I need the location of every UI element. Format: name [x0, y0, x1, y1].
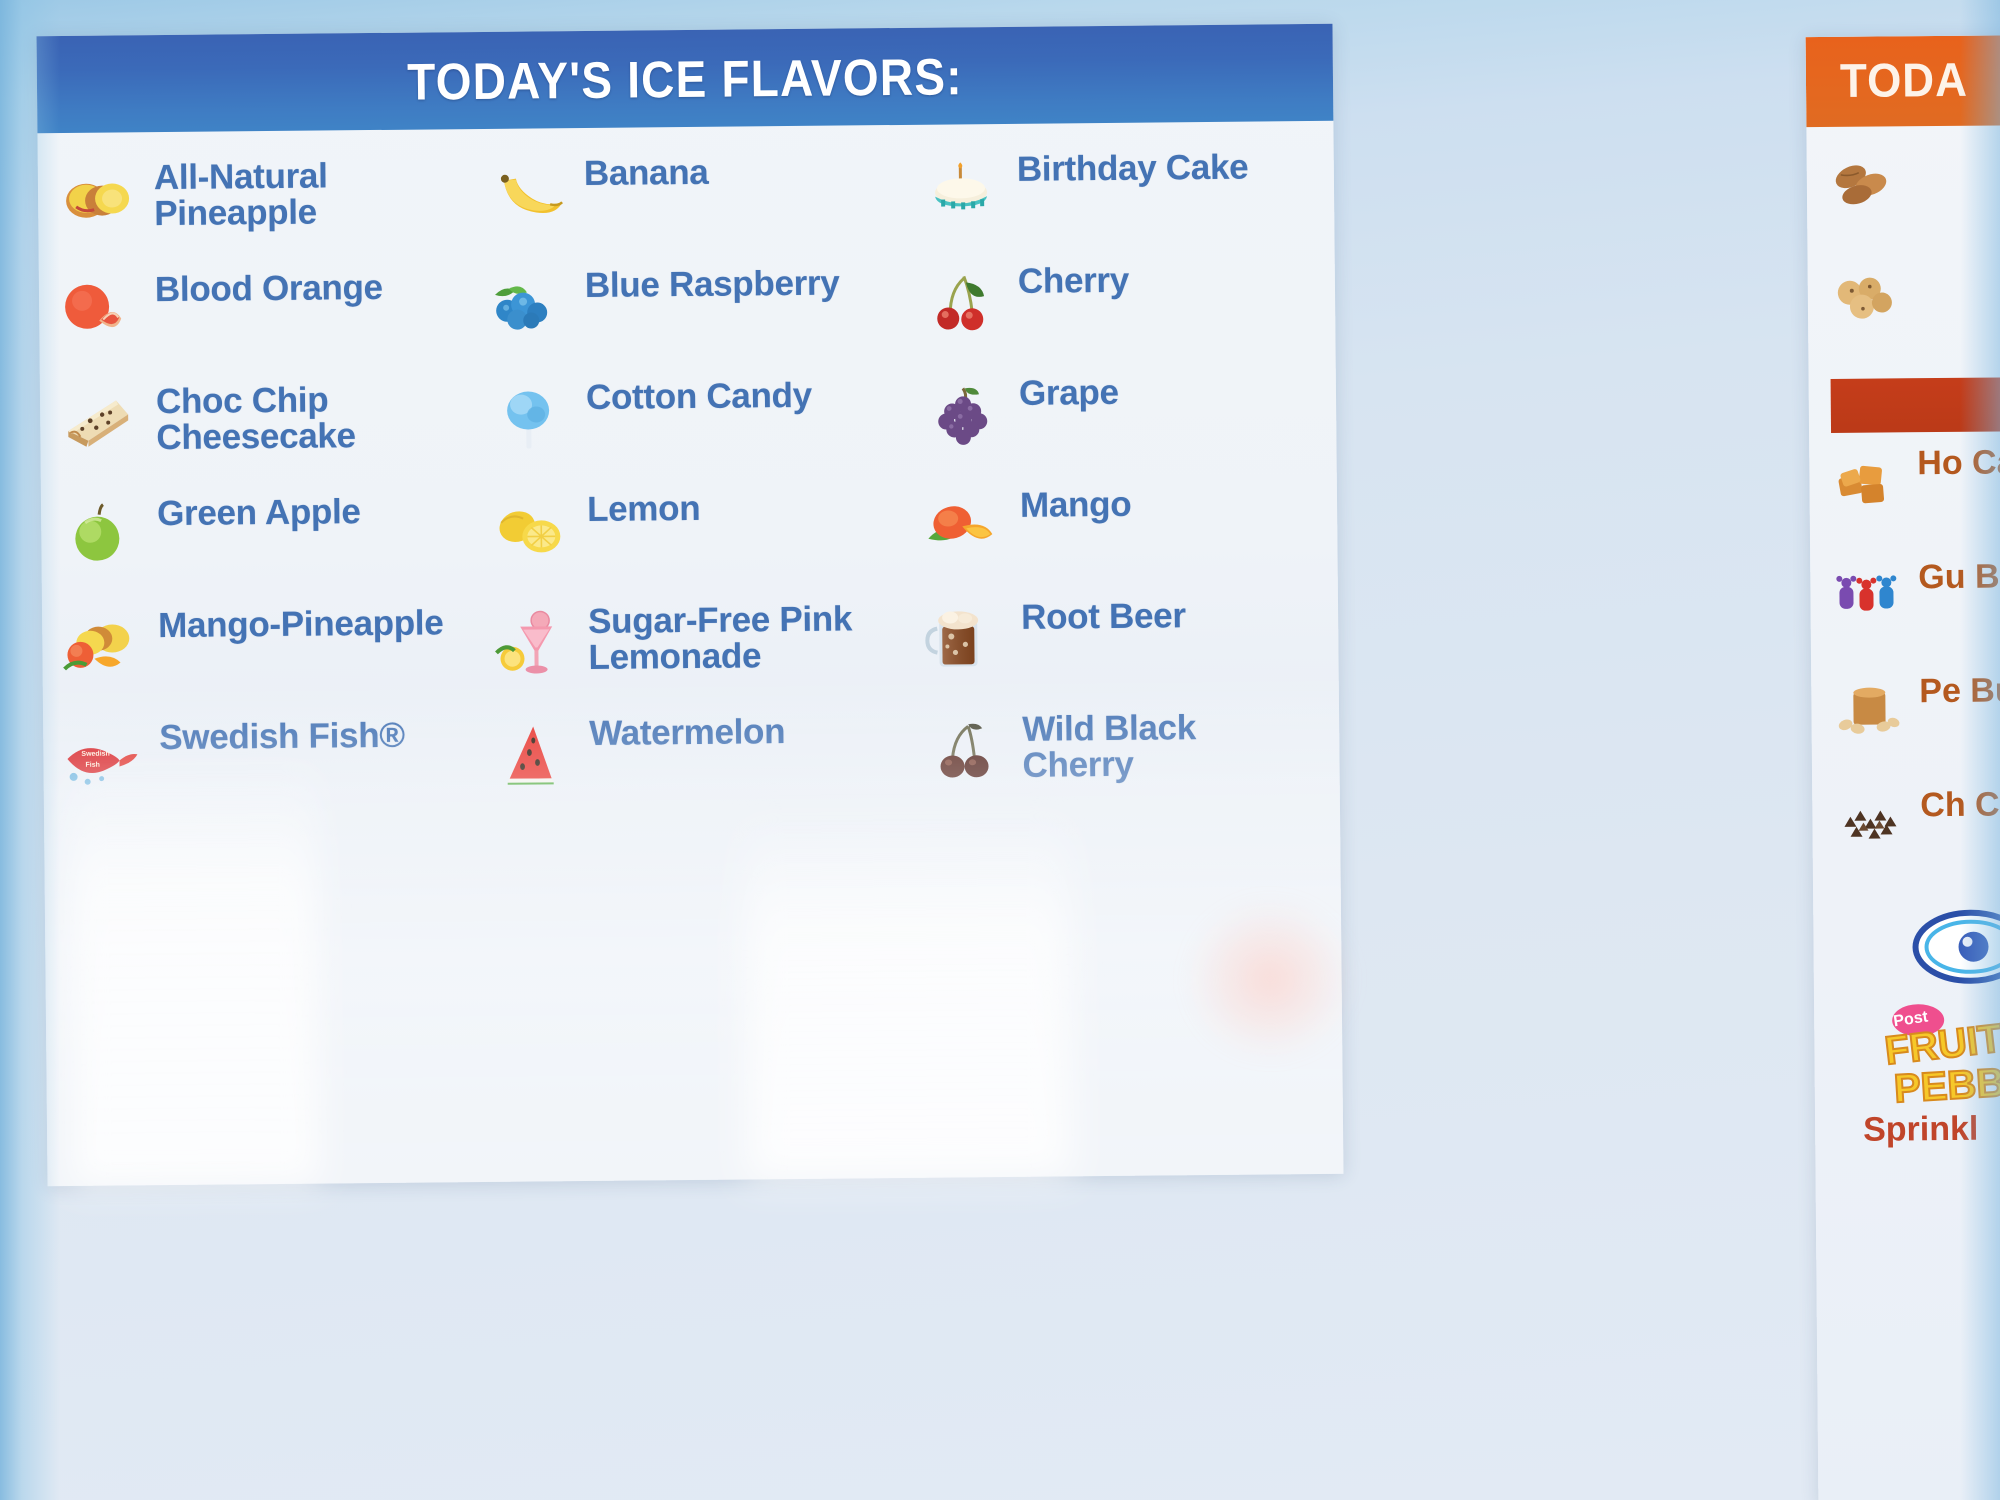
blue-raspberry-icon	[487, 272, 572, 339]
flavor-label: Grape	[1019, 375, 1119, 412]
flavor-label: Cotton Candy	[586, 378, 812, 417]
flavor-item: Birthday Cake	[919, 143, 1320, 259]
flavor-item: Wild Black Cherry	[924, 703, 1325, 819]
lemon-icon	[489, 496, 574, 563]
candy-board-title: TODA	[1840, 54, 1968, 109]
flavor-item: Cherry	[920, 255, 1321, 371]
blood-orange-icon	[57, 276, 142, 343]
candy-item	[1830, 263, 2000, 351]
flavor-item: Sugar-Free Pink Lemonade	[490, 595, 924, 711]
flavor-label: Choc Chip Cheesecake	[156, 381, 457, 457]
candy-item: Pe Bu	[1833, 673, 2000, 761]
swedish-fish-icon: Swedish Fish	[61, 724, 146, 791]
candy-label: Pe Bu	[1919, 673, 2000, 710]
candy-item: Ho Ca	[1831, 445, 2000, 533]
glass-glare-warm	[1185, 898, 1355, 1061]
flavor-item: Green Apple	[59, 487, 490, 603]
cheesecake-slice-icon	[58, 388, 143, 455]
flavor-item: Mango	[922, 479, 1323, 595]
black-cherry-icon	[924, 716, 1009, 783]
gummy-bears-icon	[1832, 564, 1907, 625]
candy-item	[1829, 149, 2000, 237]
cotton-candy-icon	[488, 384, 573, 451]
candy-label: Ho Ca	[1917, 445, 2000, 482]
candy-item: Gu Be	[1832, 559, 2000, 647]
flavor-label: Watermelon	[589, 714, 785, 752]
mango-pineapple-icon	[60, 612, 145, 679]
candy-body: Ho Ca	[1806, 125, 2000, 1150]
candy-label: Ch Ch	[1920, 787, 2000, 824]
flavor-item: All-Natural Pineapple	[56, 151, 487, 267]
glass-glare-center	[744, 808, 1072, 1179]
flavor-item: Lemon	[489, 483, 923, 599]
flavor-item: Swedish Fish Swedish Fish®	[61, 711, 492, 827]
flavor-grid: All-Natural Pineapple Banana	[37, 121, 1340, 827]
flavor-label: Cherry	[1018, 263, 1129, 300]
flavor-label: Green Apple	[157, 494, 361, 532]
caramel-cubes-icon	[1831, 450, 1906, 511]
root-beer-mug-icon	[923, 604, 1008, 671]
flavor-label: Banana	[584, 155, 709, 193]
chocolate-chips-icon	[1834, 792, 1909, 853]
cherry-icon	[920, 268, 1005, 335]
ice-board-header: TODAY'S ICE FLAVORS:	[37, 24, 1334, 133]
flavor-label: Root Beer	[1021, 598, 1186, 636]
flavor-label: Mango-Pineapple	[158, 605, 444, 644]
green-apple-icon	[59, 500, 144, 567]
cookie-dough-icon	[1830, 268, 1905, 329]
peanut-butter-icon	[1833, 678, 1908, 739]
grape-icon	[921, 380, 1006, 447]
mango-icon	[922, 492, 1007, 559]
flavor-label: Swedish Fish®	[159, 718, 405, 757]
candy-section-divider	[1831, 377, 2000, 433]
watermelon-icon	[491, 720, 576, 787]
banana-icon	[486, 160, 571, 227]
flavor-item: Blood Orange	[57, 263, 488, 379]
flavor-label: Mango	[1020, 487, 1132, 524]
pineapple-icon	[56, 164, 141, 231]
flavor-item: Root Beer	[923, 591, 1324, 707]
flavor-item: Mango-Pineapple	[60, 599, 491, 715]
flavor-label: All-Natural Pineapple	[154, 157, 455, 233]
pink-lemonade-icon	[490, 608, 575, 675]
candy-eye-logo	[1895, 901, 2000, 992]
flavor-item: Banana	[486, 147, 920, 263]
flavor-item: Grape	[921, 367, 1322, 483]
candy-item: Ch Ch	[1834, 787, 2000, 875]
ice-flavors-board: TODAY'S ICE FLAVORS: All-Natural Pineapp…	[37, 24, 1344, 1186]
sprinkles-label: Sprinkl	[1837, 1109, 2000, 1150]
flavor-item: Choc Chip Cheesecake	[58, 375, 489, 491]
svg-text:Fish: Fish	[85, 762, 99, 769]
flavor-label: Sugar-Free Pink Lemonade	[588, 601, 899, 677]
photo-scene: TODAY'S ICE FLAVORS: All-Natural Pineapp…	[0, 0, 2000, 1500]
flavor-label: Blood Orange	[155, 270, 383, 309]
flavor-label: Blue Raspberry	[585, 266, 840, 305]
fruity-pebbles-logo: Post FRUITY PEBBLES	[1876, 997, 2000, 1109]
flavor-item: Watermelon	[491, 707, 925, 823]
flavor-label: Wild Black Cherry	[1022, 709, 1298, 784]
flavor-item: Blue Raspberry	[487, 259, 921, 375]
pecan-icon	[1829, 154, 1904, 215]
flavor-item: Cotton Candy	[488, 371, 922, 487]
birthday-cake-icon	[919, 156, 1004, 223]
candy-board-header: TODA	[1806, 35, 2000, 127]
flavor-label: Birthday Cake	[1017, 150, 1249, 189]
candy-toppings-board: TODA	[1806, 35, 2000, 1500]
flavor-label: Lemon	[587, 491, 701, 528]
candy-label: Gu Be	[1918, 559, 2000, 596]
svg-text:Swedish: Swedish	[81, 751, 109, 758]
ice-board-title: TODAY'S ICE FLAVORS:	[407, 46, 963, 112]
